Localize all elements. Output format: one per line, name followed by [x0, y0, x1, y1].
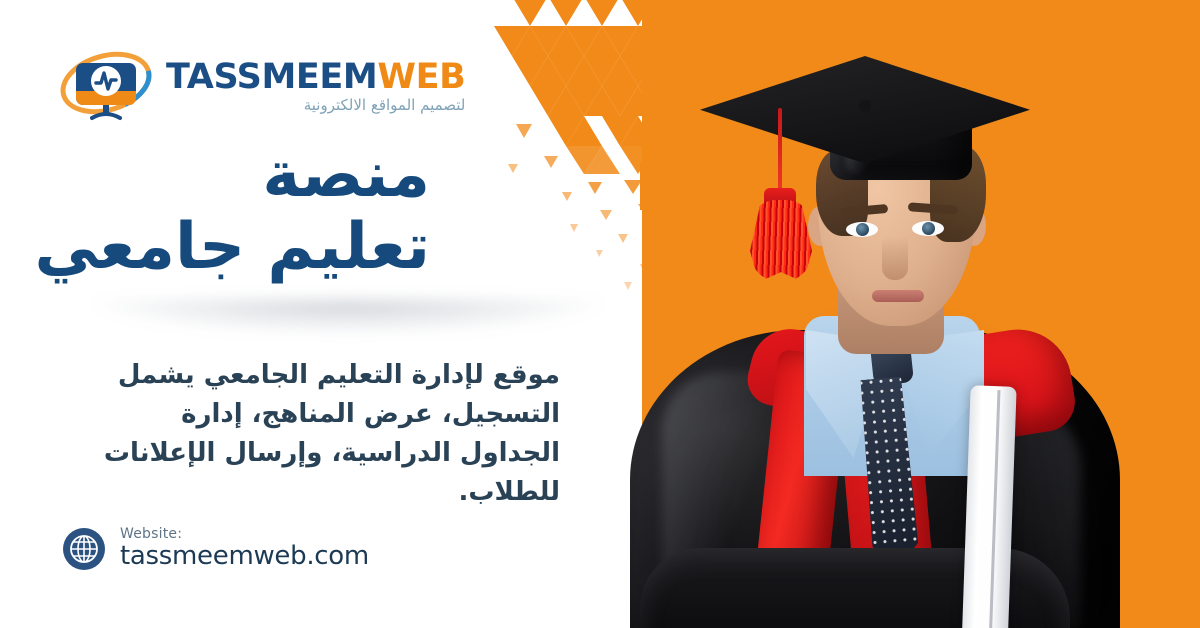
- promo-banner: TASSMEEMWEB لتصميم المواقع الالكترونية م…: [0, 0, 1200, 628]
- logo-wordmark: TASSMEEMWEB: [166, 60, 465, 95]
- tassel-fringe: [750, 200, 812, 282]
- rolled-diploma: [961, 385, 1016, 628]
- headline-line-1: منصة: [262, 138, 430, 212]
- mouth: [872, 290, 924, 302]
- website-text-block: Website: tassmeemweb.com: [120, 526, 369, 572]
- logo-word-primary: TASSMEEM: [166, 57, 377, 97]
- website-url[interactable]: tassmeemweb.com: [120, 542, 369, 572]
- mortarboard-button: [859, 100, 871, 112]
- website-label: Website:: [120, 526, 369, 542]
- logo-text-block: TASSMEEMWEB لتصميم المواقع الالكترونية: [166, 60, 465, 114]
- headline-divider-shadow: [88, 300, 608, 334]
- iris-left: [856, 223, 869, 236]
- iris-right: [922, 222, 935, 235]
- website-footer[interactable]: Website: tassmeemweb.com: [62, 526, 369, 572]
- description-text: موقع لإدارة التعليم الجامعي يشمل التسجيل…: [82, 356, 560, 512]
- tassmeem-monitor-pulse-logo-icon: [58, 47, 154, 127]
- tassel-cord: [778, 108, 782, 196]
- graduate-student-photo: [600, 0, 1200, 628]
- logo-tagline: لتصميم المواقع الالكترونية: [166, 97, 465, 114]
- headline-line-2: تعليم جامعي: [34, 212, 430, 284]
- brand-logo[interactable]: TASSMEEMWEB لتصميم المواقع الالكترونية: [58, 44, 378, 130]
- mortarboard-board: [700, 56, 1030, 168]
- logo-word-secondary: WEB: [377, 57, 465, 97]
- page-title: منصة تعليم جامعي: [34, 140, 430, 283]
- nose: [882, 236, 908, 280]
- globe-icon: [62, 527, 106, 571]
